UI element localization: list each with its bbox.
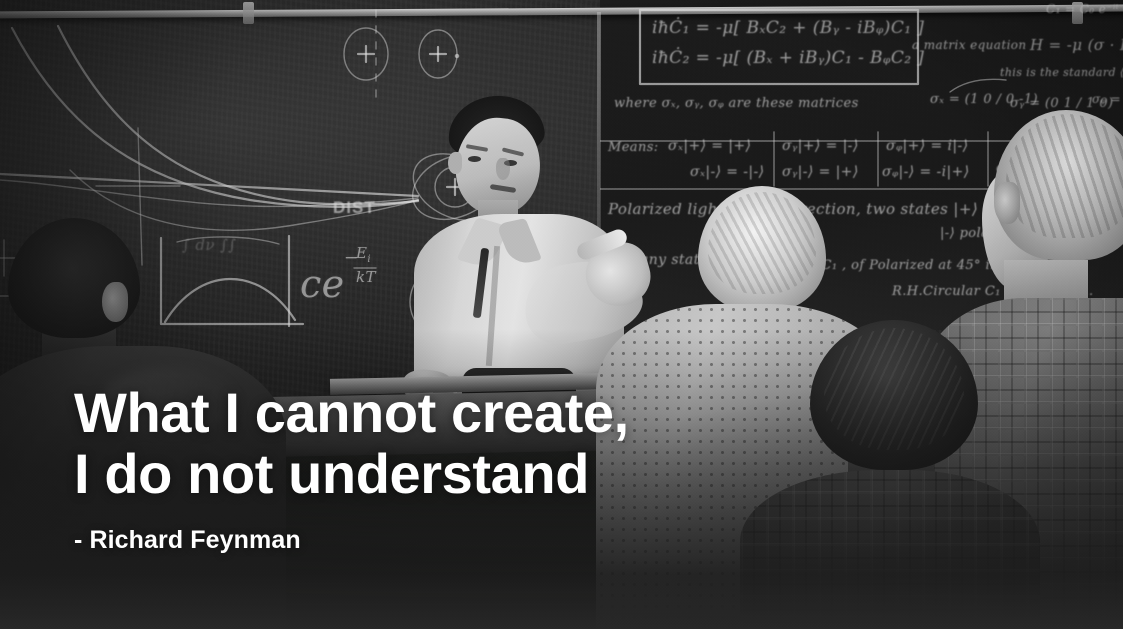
quote-attribution: - Richard Feynman — [74, 526, 774, 555]
quote-image: DIST ∫ dν ∫∫ ce − Ei kT — [0, 0, 1123, 629]
quote-overlay: What I cannot create, I do not understan… — [74, 382, 774, 555]
quote-line-1: What I cannot create, — [74, 382, 774, 443]
quote-line-2: I do not understand — [74, 443, 774, 504]
